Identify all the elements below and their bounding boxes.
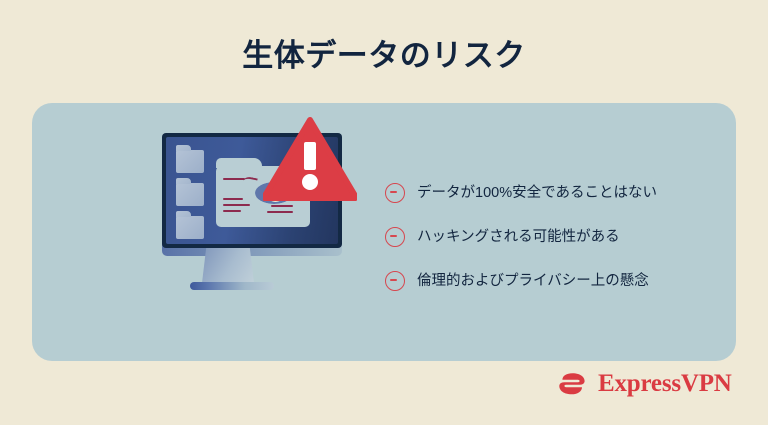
list-item-label: 倫理的およびプライバシー上の懸念 <box>417 271 649 291</box>
expressvpn-e-mark-icon <box>556 367 589 400</box>
monitor-stand-base <box>190 282 274 290</box>
illustration-monitor-eye-warning <box>130 117 380 327</box>
folder-icon-1 <box>176 150 204 173</box>
list-item: 倫理的およびプライバシー上の懸念 <box>385 269 715 293</box>
doc-text-line <box>223 198 243 200</box>
minus-circle-icon <box>385 271 405 291</box>
risk-bullet-list: データが100%安全であることはない ハッキングされる可能性がある 倫理的および… <box>385 181 715 293</box>
doc-curve-line <box>242 176 258 188</box>
folder-icon-3 <box>176 216 204 239</box>
content-card: データが100%安全であることはない ハッキングされる可能性がある 倫理的および… <box>32 103 736 361</box>
monitor-stand-neck <box>202 248 254 283</box>
doc-text-line <box>223 178 245 180</box>
doc-text-line <box>223 204 250 206</box>
expressvpn-wordmark: ExpressVPN <box>598 370 732 398</box>
list-item: データが100%安全であることはない <box>385 181 715 205</box>
expressvpn-logo: ExpressVPN <box>556 367 732 400</box>
minus-circle-icon <box>385 183 405 203</box>
minus-circle-icon <box>385 227 405 247</box>
list-item: ハッキングされる可能性がある <box>385 225 715 249</box>
list-item-label: データが100%安全であることはない <box>417 183 657 203</box>
folder-icon-2 <box>176 183 204 206</box>
doc-text-line <box>267 211 293 213</box>
warning-triangle-icon <box>263 117 357 201</box>
doc-text-line <box>271 205 293 207</box>
slide-root: 生体データのリスク <box>0 0 768 425</box>
list-item-label: ハッキングされる可能性がある <box>417 227 620 247</box>
page-title: 生体データのリスク <box>0 36 768 76</box>
doc-text-line <box>223 210 241 212</box>
